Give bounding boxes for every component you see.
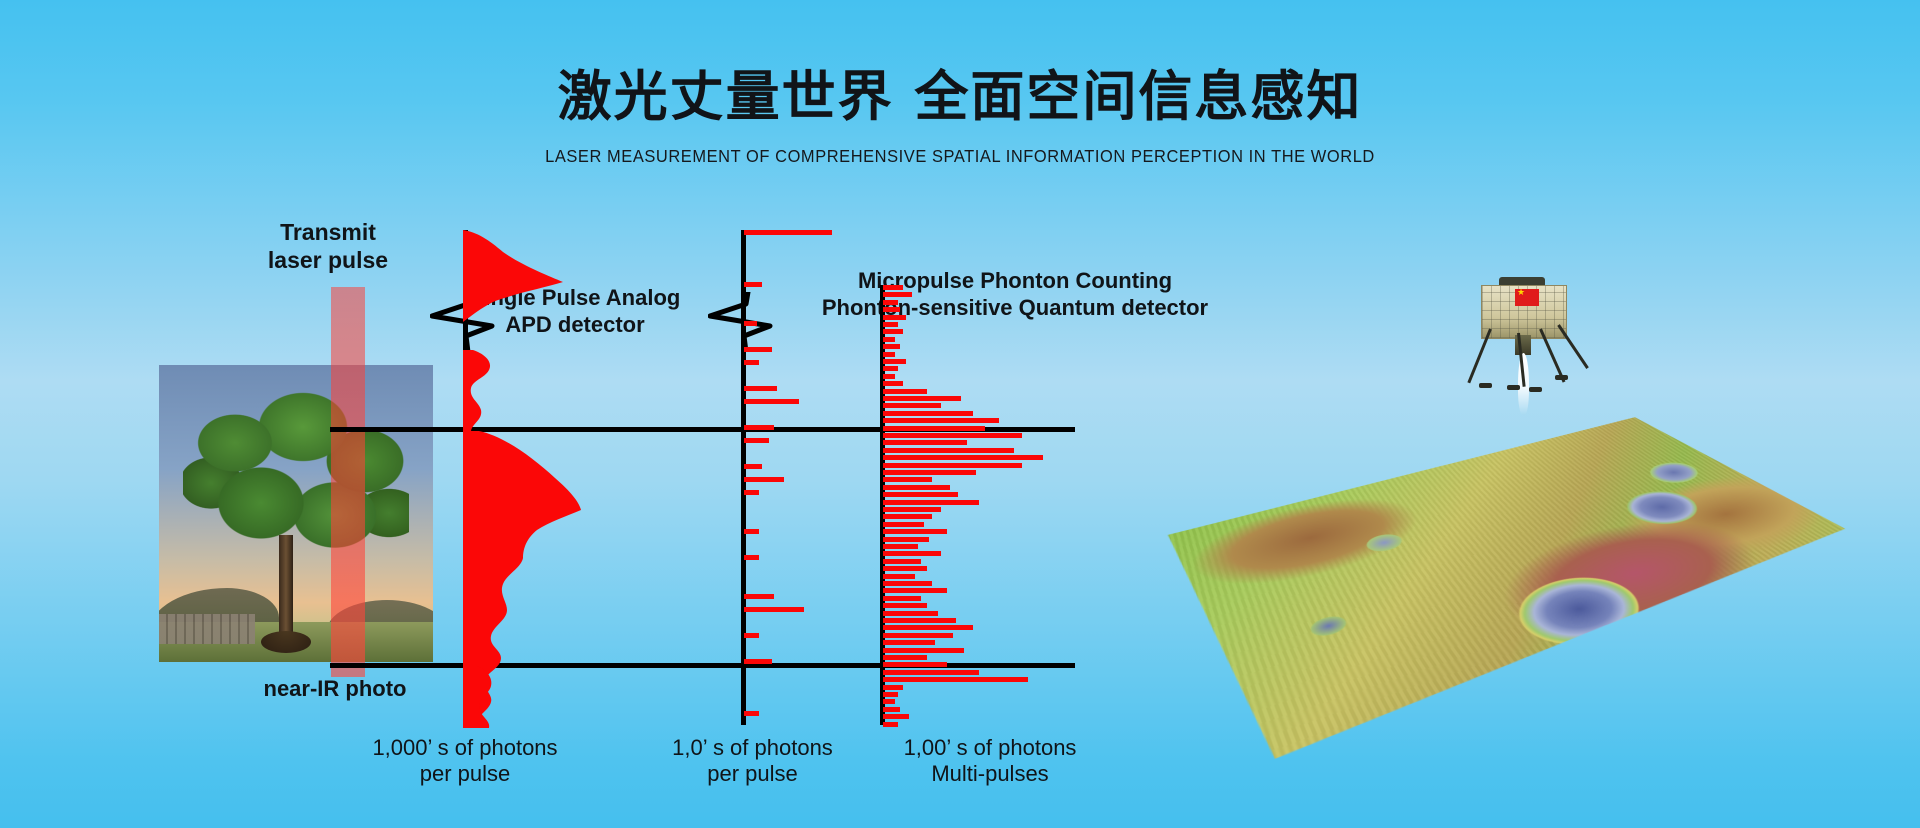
caption-photons-multi-pulse: 1,00’ s of photons Multi-pulses <box>855 735 1125 788</box>
waveform-bar <box>744 490 759 495</box>
colorized-dem-surface <box>1152 415 1869 780</box>
analog-waveform-profile <box>463 230 643 735</box>
waveform-bar <box>883 588 947 593</box>
waveform-bar <box>883 366 898 371</box>
waveform-bar <box>883 440 967 445</box>
china-flag-icon <box>1515 289 1539 306</box>
waveform-bar <box>883 470 976 475</box>
waveform-bar <box>883 285 903 290</box>
waveform-bar <box>744 659 772 664</box>
waveform-bar <box>883 522 924 527</box>
waveform-bar <box>883 477 932 482</box>
photo-stone-wall <box>159 614 255 644</box>
waveform-bar <box>883 307 900 312</box>
waveform-bar <box>883 670 979 675</box>
waveform-bar <box>883 463 1022 468</box>
lander-foot <box>1479 383 1492 388</box>
waveform-bar <box>883 640 935 645</box>
waveform-bar <box>883 707 900 712</box>
waveform-bar <box>883 389 927 394</box>
caption-photons-per-pulse-1: 1,000’ s of photons per pulse <box>325 735 605 788</box>
waveform-bar <box>883 448 1014 453</box>
waveform-bar <box>883 529 947 534</box>
waveform-bar <box>883 581 932 586</box>
waveform-bar <box>883 514 932 519</box>
waveform-bar <box>883 396 961 401</box>
waveform-bar <box>883 648 964 653</box>
transmit-laser-pulse-label: Transmit laser pulse <box>218 218 438 274</box>
waveform-bar <box>744 711 759 716</box>
waveform-bar <box>883 611 938 616</box>
waveform-bar <box>744 438 769 443</box>
waveform-bar <box>744 529 759 534</box>
waveform-bar <box>883 692 898 697</box>
waveform-bar <box>883 685 903 690</box>
waveform-bar <box>744 282 762 287</box>
waveform-bar <box>883 418 999 423</box>
waveform-bar <box>883 551 941 556</box>
waveform-bar <box>883 322 898 327</box>
photo-tree-canopy <box>183 391 409 581</box>
waveform-bar <box>744 425 774 430</box>
waveform-bar <box>883 337 895 342</box>
waveform-bar <box>883 714 909 719</box>
waveform-bar <box>883 403 941 408</box>
waveform-bar <box>883 292 912 297</box>
waveform-bar <box>883 722 898 727</box>
ground-reference-line <box>330 663 1075 668</box>
lunar-lander <box>1463 277 1583 397</box>
lander-leg <box>1467 328 1492 383</box>
waveform-bar <box>744 360 759 365</box>
waveform-bar <box>883 507 941 512</box>
photo-tree-trunk <box>279 535 293 647</box>
waveform-bar <box>883 329 903 334</box>
waveform-bar <box>883 359 906 364</box>
waveform-bar <box>883 344 900 349</box>
waveform-bar <box>883 625 973 630</box>
waveform-bar <box>883 544 918 549</box>
waveform-bar <box>883 485 950 490</box>
waveform-bar <box>744 347 772 352</box>
waveform-bar <box>883 381 903 386</box>
waveform-bar <box>744 386 777 391</box>
waveform-bar <box>883 559 921 564</box>
waveform-bar <box>883 300 898 305</box>
waveform-bar <box>744 607 804 612</box>
waveform-bar <box>883 633 953 638</box>
axis-break-icon <box>708 292 778 352</box>
waveform-bar <box>744 464 762 469</box>
lunar-terrain-scene <box>1195 265 1835 735</box>
lander-foot <box>1507 385 1520 390</box>
waveform-bar <box>883 566 927 571</box>
waveform-bar <box>744 399 799 404</box>
waveform-bar <box>883 574 915 579</box>
lander-leg <box>1557 324 1589 369</box>
near-ir-photo-label: near-IR photo <box>215 676 455 703</box>
caption-photons-per-pulse-2: 1,0’ s of photons per pulse <box>620 735 885 788</box>
waveform-bar <box>744 321 757 326</box>
lander-foot <box>1529 387 1542 392</box>
poster-stage: 激光丈量世界 全面空间信息感知 LASER MEASUREMENT OF COM… <box>0 0 1920 828</box>
lander-foot <box>1555 375 1568 380</box>
waveform-bar <box>744 594 774 599</box>
waveform-bar <box>883 352 895 357</box>
waveform-bar <box>883 411 973 416</box>
waveform-bar <box>883 618 956 623</box>
waveform-bar <box>883 374 895 379</box>
micropulse-detector-label: Micropulse Phonton Counting Phonton-sens… <box>795 268 1235 322</box>
waveform-bar <box>744 477 784 482</box>
waveform-bar <box>744 633 759 638</box>
waveform-bar <box>883 655 927 660</box>
waveform-bar <box>883 699 895 704</box>
waveform-bar <box>883 492 958 497</box>
waveform-bar <box>744 555 759 560</box>
waveform-bar <box>883 455 1043 460</box>
waveform-bar <box>883 603 927 608</box>
laser-beam-band <box>331 287 365 677</box>
waveform-bar <box>883 315 906 320</box>
waveform-bar <box>883 500 979 505</box>
waveform-bar <box>883 596 921 601</box>
waveform-bar <box>883 662 947 667</box>
waveform-bar <box>744 230 832 235</box>
page-subtitle: LASER MEASUREMENT OF COMPREHENSIVE SPATI… <box>58 146 1863 167</box>
near-ir-photo <box>159 365 433 662</box>
waveform-bar <box>883 537 929 542</box>
waveform-bar <box>883 433 1022 438</box>
page-title: 激光丈量世界 全面空间信息感知 <box>0 52 1920 131</box>
waveform-bar <box>883 677 1028 682</box>
waveform-bar <box>883 426 985 431</box>
